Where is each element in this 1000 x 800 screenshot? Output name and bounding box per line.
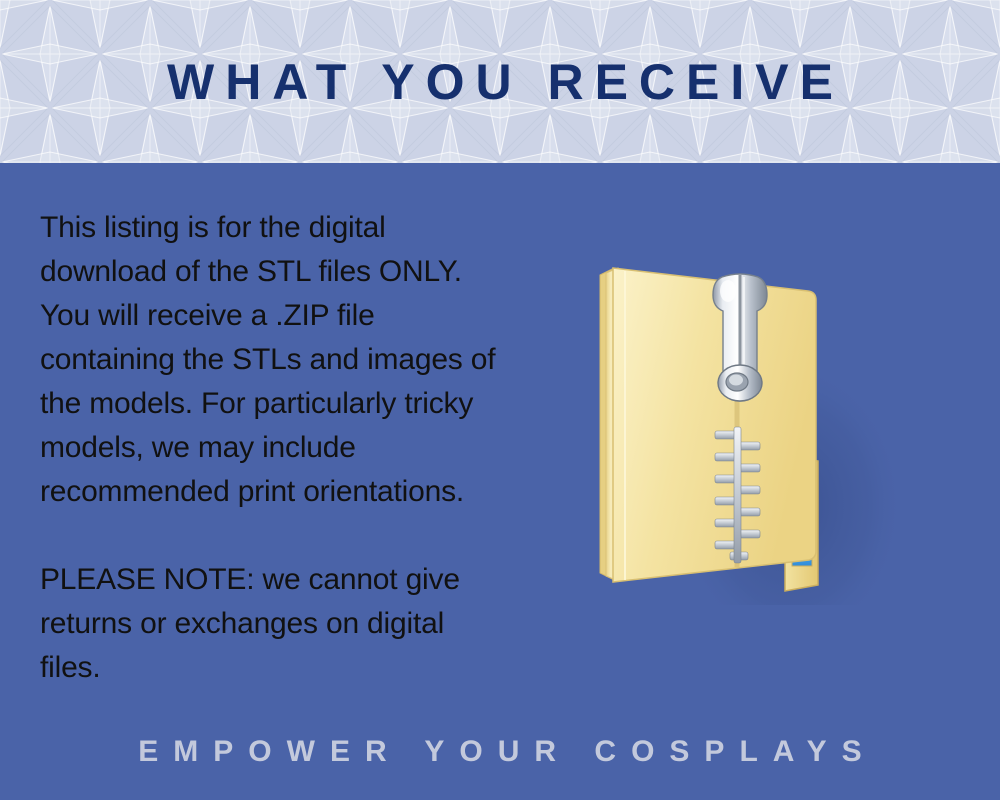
paragraph-please-note: PLEASE NOTE: we cannot give returns or e… <box>40 558 510 690</box>
header-banner: WHAT YOU RECEIVE <box>0 0 1000 163</box>
body-copy: This listing is for the digital download… <box>40 206 510 690</box>
footer-tagline: EMPOWER YOUR COSPLAYS <box>0 735 1000 769</box>
zip-folder-icon <box>580 255 920 605</box>
promo-graphic: WHAT YOU RECEIVE This listing is for the… <box>0 0 1000 800</box>
page-title: WHAT YOU RECEIVE <box>0 0 1000 163</box>
paragraph-listing-description: This listing is for the digital download… <box>40 206 510 514</box>
folder-front-face <box>613 268 816 582</box>
zipper-pull-ring <box>718 365 762 401</box>
slider-highlight <box>720 280 736 302</box>
